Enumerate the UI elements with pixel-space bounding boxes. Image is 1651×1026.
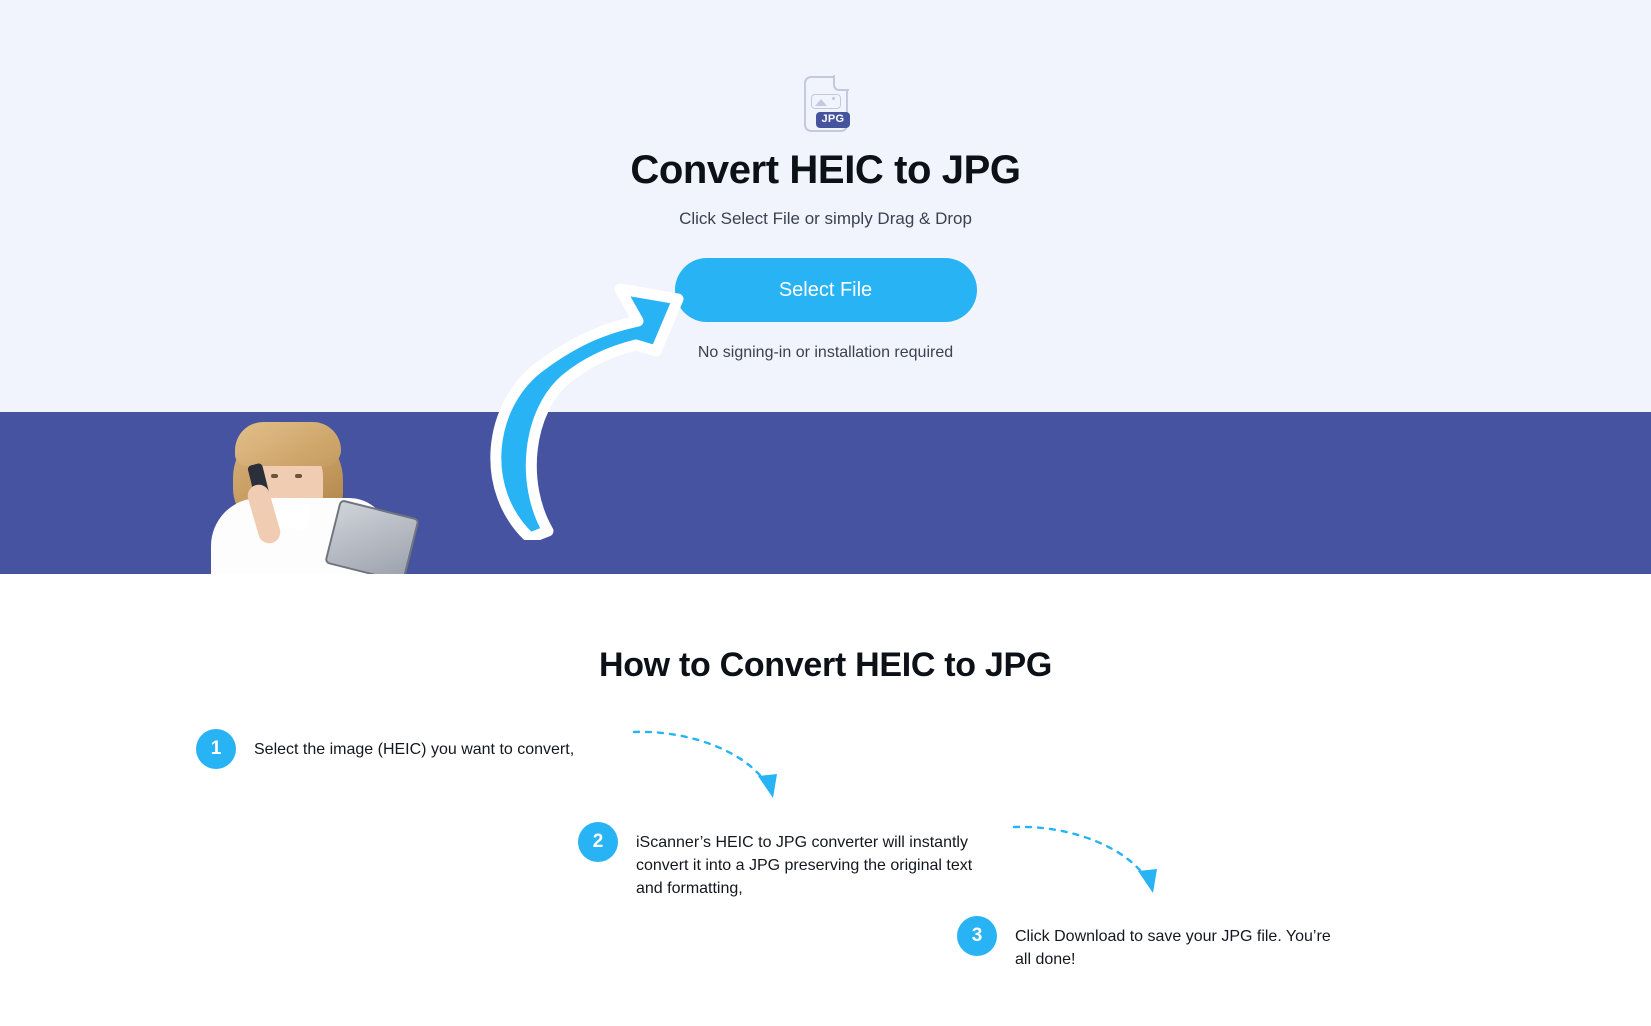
jpg-file-icon: JPG — [804, 76, 848, 132]
page-title: Convert HEIC to JPG — [630, 148, 1020, 193]
file-format-badge: JPG — [816, 112, 851, 128]
step-connector-arrow-2 — [1010, 819, 1170, 914]
howto-step-2: 2 iScanner’s HEIC to JPG converter will … — [578, 822, 978, 901]
howto-step-3: 3 Click Download to save your JPG file. … — [957, 916, 1347, 971]
step-text: Click Download to save your JPG file. Yo… — [1015, 916, 1347, 971]
step-text: iScanner’s HEIC to JPG converter will in… — [636, 822, 978, 901]
curved-arrow-pointing-to-select-file — [470, 255, 690, 540]
step-number-badge: 2 — [578, 822, 618, 862]
step-text: Select the image (HEIC) you want to conv… — [254, 729, 574, 761]
no-signin-note: No signing-in or installation required — [698, 344, 953, 362]
image-glyph-icon — [811, 94, 841, 109]
step-connector-arrow-1 — [630, 724, 790, 819]
file-corner-fold — [833, 75, 849, 91]
howto-section: How to Convert HEIC to JPG 1 Select the … — [0, 574, 1651, 685]
page-root: JPG Convert HEIC to JPG Click Select Fil… — [0, 0, 1651, 1026]
step-number-badge: 3 — [957, 916, 997, 956]
howto-step-1: 1 Select the image (HEIC) you want to co… — [196, 729, 616, 769]
bangs-shape — [235, 422, 341, 466]
page-subtitle: Click Select File or simply Drag & Drop — [679, 209, 972, 229]
iscanner-promo-banner: All Editing Features You Need Download i… — [0, 412, 1651, 574]
laptop-shape — [324, 499, 420, 574]
select-file-button[interactable]: Select File — [675, 258, 977, 322]
woman-on-phone-photo — [205, 412, 395, 574]
howto-heading: How to Convert HEIC to JPG — [0, 646, 1651, 685]
step-number-badge: 1 — [196, 729, 236, 769]
hero-section: JPG Convert HEIC to JPG Click Select Fil… — [0, 0, 1651, 412]
